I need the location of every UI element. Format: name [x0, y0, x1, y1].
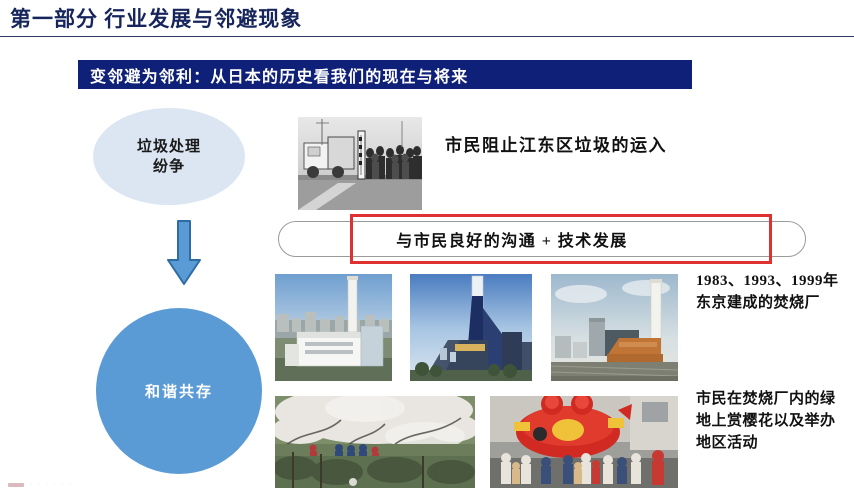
- section-banner: 变邻避为邻利：从日本的历史看我们的现在与将来: [78, 60, 692, 89]
- dispute-label-line-2: 纷争: [153, 159, 185, 175]
- dispute-label-line-1: 垃圾处理: [137, 138, 201, 154]
- harmony-circle-label: 和谐共存: [96, 381, 262, 402]
- protest-photo-caption: 市民阻止江东区垃圾的运入: [445, 131, 667, 156]
- protest-photo: [298, 117, 422, 210]
- plants-caption: 1983、1993、1999年东京建成的焚烧厂: [696, 271, 846, 315]
- title-divider: [0, 36, 854, 37]
- harmony-circle: 和谐共存: [96, 308, 262, 474]
- cherry-blossom-park-photo: [275, 396, 475, 488]
- presentation-slide: 第一部分 行业发展与邻避现象 变邻避为邻利：从日本的历史看我们的现在与将来 垃圾…: [0, 0, 854, 490]
- slide-footer: · · · · · ·: [8, 480, 72, 489]
- red-highlight-rectangle: [350, 214, 772, 264]
- dispute-ellipse: 垃圾处理 纷争: [93, 108, 245, 205]
- community-caption: 市民在焚烧厂内的绿地上赏樱花以及举办地区活动: [696, 389, 846, 454]
- dispute-ellipse-label: 垃圾处理 纷争: [93, 136, 245, 177]
- section-banner-label: 变邻避为邻利：从日本的历史看我们的现在与将来: [90, 63, 468, 87]
- arrow-down-icon: [166, 220, 202, 286]
- footer-text: · · · · · ·: [30, 480, 72, 489]
- incineration-plant-photo-2: [410, 274, 532, 381]
- incineration-plant-photo-1: [275, 274, 392, 381]
- page-title: 第一部分 行业发展与邻避现象: [10, 3, 302, 33]
- community-event-photo: [490, 396, 678, 488]
- footer-mark-icon: [8, 483, 24, 487]
- incineration-plant-photo-3: [551, 274, 678, 381]
